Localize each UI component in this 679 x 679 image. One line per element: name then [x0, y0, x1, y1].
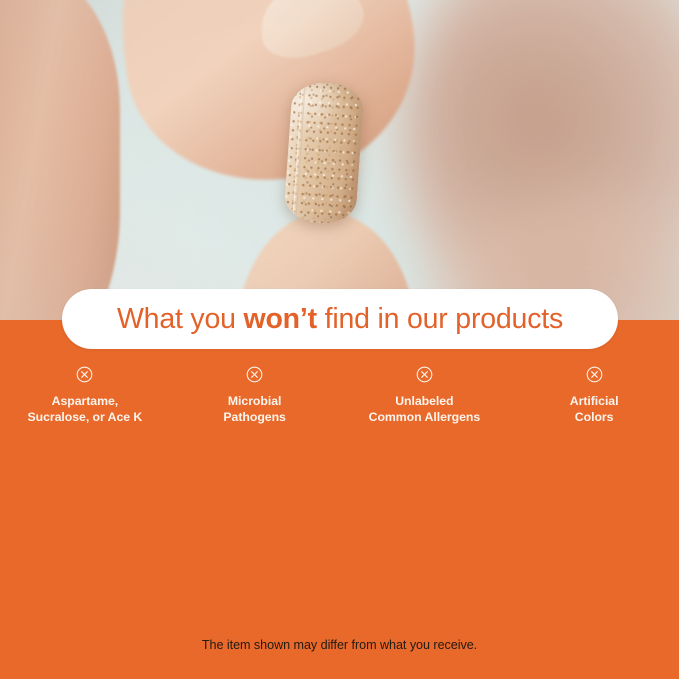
title-prefix: What you — [117, 303, 244, 335]
headline-card: What you won’t find in our products — [62, 289, 618, 349]
grid-item-label: Unlabeled Common Allergens — [369, 394, 480, 425]
grid-item: Microbial Pathogens — [170, 366, 340, 446]
title-emphasis: won’t — [244, 303, 317, 335]
circle-x-icon — [586, 366, 603, 383]
circle-x-icon — [416, 366, 433, 383]
grid-item-label: Artificial Colors — [570, 394, 619, 425]
grid-item-label: Aspartame, Sucralose, or Ace K — [27, 394, 142, 425]
grid-row-1: Aspartame, Sucralose, or Ace K Microbial… — [0, 366, 679, 446]
disclaimer-note: The item shown may differ from what you … — [0, 638, 679, 652]
excluded-ingredients-grid: Aspartame, Sucralose, or Ace K Microbial… — [0, 366, 679, 446]
circle-x-icon — [246, 366, 263, 383]
page-title: What you won’t find in our products — [117, 305, 563, 334]
grid-item-label: Microbial Pathogens — [223, 394, 285, 425]
grid-item: Artificial Colors — [509, 366, 679, 446]
photo-vignette — [0, 0, 679, 320]
title-suffix: find in our products — [317, 303, 563, 335]
grid-item: Unlabeled Common Allergens — [340, 366, 510, 446]
grid-item: Aspartame, Sucralose, or Ace K — [0, 366, 170, 446]
circle-x-icon — [76, 366, 93, 383]
product-infographic: What you won’t find in our products Aspa… — [0, 0, 679, 679]
product-photo — [0, 0, 679, 320]
